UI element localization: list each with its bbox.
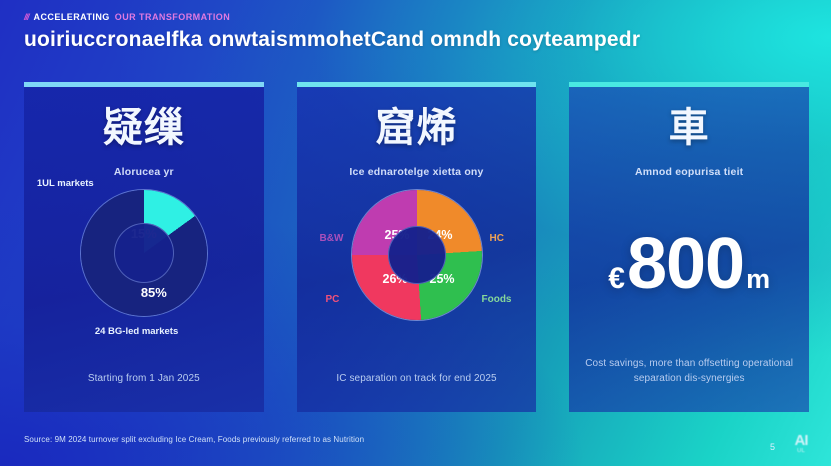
donut-label-bg-led: 24 BG-led markets (95, 326, 178, 337)
legend-hc: HC (490, 233, 504, 244)
panel-footer-note: Starting from 1 Jan 2025 (34, 372, 254, 387)
slice-label-foods: 25% (430, 272, 455, 286)
eyebrow-banner: /// ACCELERATING OUR TRANSFORMATION (24, 12, 230, 22)
logo-mark: AI (795, 433, 808, 448)
panel-accent-bar (24, 82, 264, 87)
slide-canvas: /// ACCELERATING OUR TRANSFORMATION uoir… (0, 0, 831, 466)
donut-label-1ul: 1UL markets (37, 178, 94, 189)
logo-wordmark: UL (797, 448, 805, 454)
eyebrow-primary-text: ACCELERATING (34, 12, 110, 22)
panel-cost-savings: 車 Amnod eopurisa tieit € 800 m Cost savi… (569, 82, 809, 412)
panels-row: 疑缫 Alorucea yr 1UL markets 15% 85% 24 BG… (24, 82, 809, 412)
panel-accent-bar (569, 82, 809, 87)
slide-headline: uoiriuccronaeIfka onwtaismmohetCand omnd… (24, 28, 807, 52)
legend-bw: B&W (320, 233, 344, 244)
figure-unit: m (746, 264, 770, 295)
cost-savings-figure: € 800 m (608, 232, 770, 297)
panel-footer-note: IC separation on track for end 2025 (307, 372, 527, 387)
panel-accent-bar (297, 82, 537, 87)
source-note: Source: 9M 2024 turnover split excluding… (24, 435, 364, 444)
panel-title: 窟烯 (376, 108, 458, 148)
slice-label-pc: 26% (383, 272, 408, 286)
panel-subtitle: Amnod eopurisa tieit (635, 166, 743, 178)
donut-chart-markets: 1UL markets 15% 85% 24 BG-led markets (81, 190, 207, 316)
donut-ring: 15% 85% (81, 190, 207, 316)
eyebrow-secondary-text: OUR TRANSFORMATION (115, 12, 230, 22)
legend-foods: Foods (482, 294, 512, 305)
figure-value: 800 (627, 232, 744, 297)
donut-ring: 24% 25% 26% 25% (352, 190, 482, 320)
slashes-icon: /// (24, 12, 29, 22)
slice-label-15: 15% (131, 226, 157, 241)
panel-subtitle: Ice ednarotelge xietta ony (349, 166, 483, 178)
company-logo: AI UL (781, 428, 821, 458)
slice-label-85: 85% (141, 285, 167, 300)
slice-label-bw: 25% (385, 228, 410, 242)
panel-subtitle: Alorucea yr (114, 166, 174, 178)
panel-turnover-split: 窟烯 Ice ednarotelge xietta ony 24% 25% 26… (297, 82, 537, 412)
panel-footer-note: Cost savings, more than offsetting opera… (579, 357, 799, 386)
page-number: 5 (770, 442, 775, 452)
donut-chart-business-groups: 24% 25% 26% 25% HC Foods PC B&W (352, 190, 482, 320)
panel-markets: 疑缫 Alorucea yr 1UL markets 15% 85% 24 BG… (24, 82, 264, 412)
panel-title: 疑缫 (103, 108, 185, 148)
slice-label-hc: 24% (428, 228, 453, 242)
currency-symbol: € (608, 262, 625, 296)
legend-pc: PC (326, 294, 340, 305)
panel-title: 車 (669, 108, 710, 148)
